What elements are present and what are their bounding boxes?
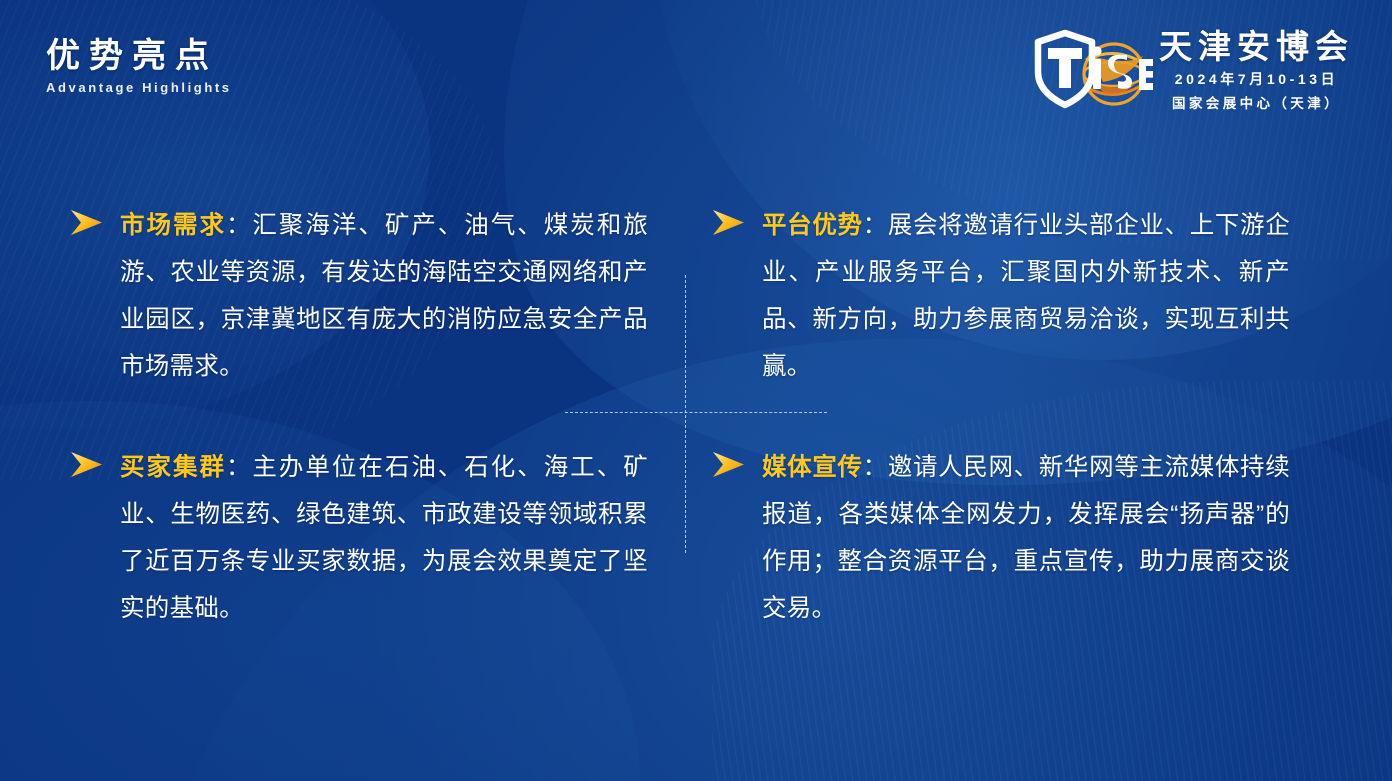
highlight-lead: 市场需求 <box>120 212 226 239</box>
fair-venue: 国家会展中心（天津） <box>1159 92 1354 112</box>
vertical-dashed-divider <box>685 275 686 553</box>
highlight-lead: 买家集群 <box>120 454 226 481</box>
arrow-right-icon <box>710 208 750 238</box>
logo-text-block: 天津安博会 2024年7月10-13日 国家会展中心（天津） <box>1159 26 1354 112</box>
logo-mark <box>1031 26 1153 112</box>
highlight-paragraph: 平台优势：展会将邀请行业头部企业、上下游企业、产业服务平台，汇聚国内外新技术、新… <box>762 202 1290 390</box>
highlight-paragraph: 市场需求：汇聚海洋、矿产、油气、煤炭和旅游、农业等资源，有发达的海陆空交通网络和… <box>120 202 648 390</box>
fair-date: 2024年7月10-13日 <box>1159 69 1354 89</box>
bullet-row: 平台优势：展会将邀请行业头部企业、上下游企业、产业服务平台，汇聚国内外新技术、新… <box>710 202 1290 390</box>
page-title-group: 优势亮点 Advantage Highlights <box>46 38 232 95</box>
highlight-paragraph: 买家集群：主办单位在石油、石化、海工、矿业、生物医药、绿色建筑、市政建设等领域积… <box>120 444 648 632</box>
bullet-row: 市场需求：汇聚海洋、矿产、油气、煤炭和旅游、农业等资源，有发达的海陆空交通网络和… <box>68 202 648 390</box>
highlight-lead: 平台优势 <box>762 212 863 239</box>
arrow-right-icon <box>68 450 108 480</box>
page-title: 优势亮点 <box>46 38 232 75</box>
highlight-colon: ： <box>226 212 252 239</box>
highlight-block-platform-advantage: 平台优势：展会将邀请行业头部企业、上下游企业、产业服务平台，汇聚国内外新技术、新… <box>710 202 1290 390</box>
highlight-colon: ： <box>863 454 888 481</box>
page-subtitle: Advantage Highlights <box>46 80 232 95</box>
horizontal-dashed-divider <box>565 412 827 413</box>
highlight-colon: ： <box>226 454 252 481</box>
arrow-right-icon <box>68 208 108 238</box>
highlight-paragraph: 媒体宣传：邀请人民网、新华网等主流媒体持续报道，各类媒体全网发力，发挥展会“扬声… <box>762 444 1290 632</box>
event-logo: 天津安博会 2024年7月10-13日 国家会展中心（天津） <box>1031 26 1354 112</box>
highlight-block-media-promotion: 媒体宣传：邀请人民网、新华网等主流媒体持续报道，各类媒体全网发力，发挥展会“扬声… <box>710 444 1290 632</box>
slide-canvas: 优势亮点 Advantage Highlights <box>0 0 1392 781</box>
fair-name: 天津安博会 <box>1159 30 1354 65</box>
bullet-row: 媒体宣传：邀请人民网、新华网等主流媒体持续报道，各类媒体全网发力，发挥展会“扬声… <box>710 444 1290 632</box>
content-area: 市场需求：汇聚海洋、矿产、油气、煤炭和旅游、农业等资源，有发达的海陆空交通网络和… <box>0 188 1392 688</box>
highlight-block-market-demand: 市场需求：汇聚海洋、矿产、油气、煤炭和旅游、农业等资源，有发达的海陆空交通网络和… <box>68 202 648 390</box>
highlight-block-buyer-cluster: 买家集群：主办单位在石油、石化、海工、矿业、生物医药、绿色建筑、市政建设等领域积… <box>68 444 648 632</box>
highlight-lead: 媒体宣传 <box>762 454 863 481</box>
slide-header: 优势亮点 Advantage Highlights <box>0 0 1392 140</box>
bullet-row: 买家集群：主办单位在石油、石化、海工、矿业、生物医药、绿色建筑、市政建设等领域积… <box>68 444 648 632</box>
arrow-right-icon <box>710 450 750 480</box>
highlight-colon: ： <box>863 212 888 239</box>
